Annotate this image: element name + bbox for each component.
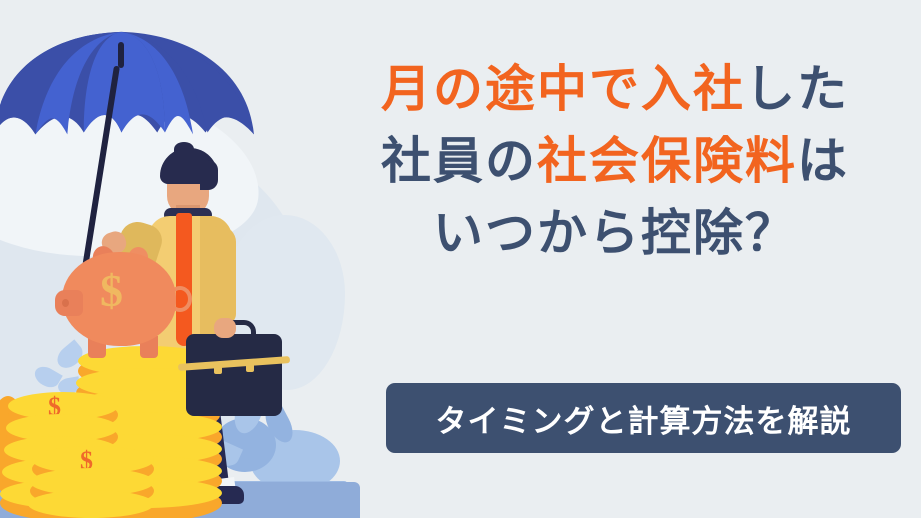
piggy-snout xyxy=(55,290,83,316)
piggy-nostril xyxy=(62,299,69,307)
hand-right xyxy=(214,318,236,338)
headline-line-2: 社員の社会保険料は xyxy=(320,136,910,186)
headline-line-1-seg-1: 月の途中で入社 xyxy=(381,60,745,118)
arm-right xyxy=(204,226,236,324)
tie xyxy=(176,218,192,346)
briefcase-body xyxy=(186,334,282,416)
headline-line-2-seg-3: は xyxy=(797,132,849,190)
coin xyxy=(28,490,154,518)
subtitle-banner-text: タイミングと計算方法を解説 xyxy=(436,396,852,441)
sideburn xyxy=(200,160,218,190)
headline-block: 月の途中で入社した 社員の社会保険料は いつから控除？ xyxy=(320,64,910,280)
briefcase-clasp-right xyxy=(246,360,254,372)
headline-line-3-seg-1: いつから控除？ xyxy=(433,204,797,262)
headline-line-2-seg-2: 社会保険料 xyxy=(537,132,797,190)
subtitle-banner: タイミングと計算方法を解説 xyxy=(386,383,901,453)
headline-line-1: 月の途中で入社した xyxy=(320,64,910,114)
headline-line-1-seg-2: した xyxy=(745,60,849,118)
hero-banner-image: $ $ $ 月の途中で入社した 社員の社会保険料は いつから控除？ xyxy=(0,0,921,518)
headline-line-3: いつから控除？ xyxy=(320,208,910,258)
piggy-dollar-sign: $ xyxy=(100,268,123,314)
briefcase-clasp-left xyxy=(214,362,222,374)
headline-line-2-seg-1: 社員の xyxy=(381,132,537,190)
